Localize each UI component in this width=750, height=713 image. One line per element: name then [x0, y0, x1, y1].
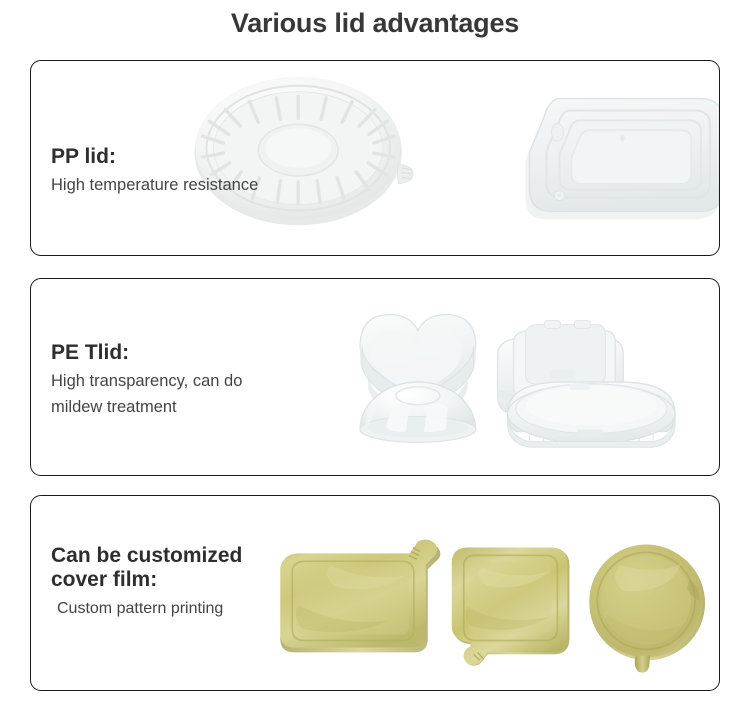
pp-lid-heading: PP lid: [51, 145, 258, 169]
rectangular-pp-lid-art [526, 99, 719, 220]
heart-shaped-pe-lid-art [360, 315, 476, 430]
cover-film-text-block: Can be customized cover film: Custom pat… [51, 544, 242, 622]
rectangular-gold-foil-lid-art [280, 539, 440, 652]
panel-pp-lid: PP lid: High temperature resistance [30, 60, 720, 256]
square-pe-lid-art [498, 321, 624, 414]
oval-pe-lid-art [508, 382, 676, 447]
cover-film-description: Custom pattern printing [51, 597, 242, 622]
square-gold-foil-lid-art [452, 547, 570, 665]
page-title: Various lid advantages [0, 8, 750, 39]
dome-pe-lid-art [360, 382, 476, 442]
round-gold-foil-lid-art [589, 545, 705, 673]
panel-pe-lid: PE Tlid: High transparency, can do milde… [30, 278, 720, 476]
cover-film-heading: Can be customized cover film: [51, 544, 242, 593]
pe-lid-description: High transparency, can do mildew treatme… [51, 369, 242, 420]
pe-lid-text-block: PE Tlid: High transparency, can do milde… [51, 341, 242, 420]
pe-lid-heading: PE Tlid: [51, 341, 242, 365]
pp-lid-description: High temperature resistance [51, 173, 258, 199]
pp-lid-text-block: PP lid: High temperature resistance [51, 145, 258, 199]
panel-cover-film: Can be customized cover film: Custom pat… [30, 495, 720, 691]
